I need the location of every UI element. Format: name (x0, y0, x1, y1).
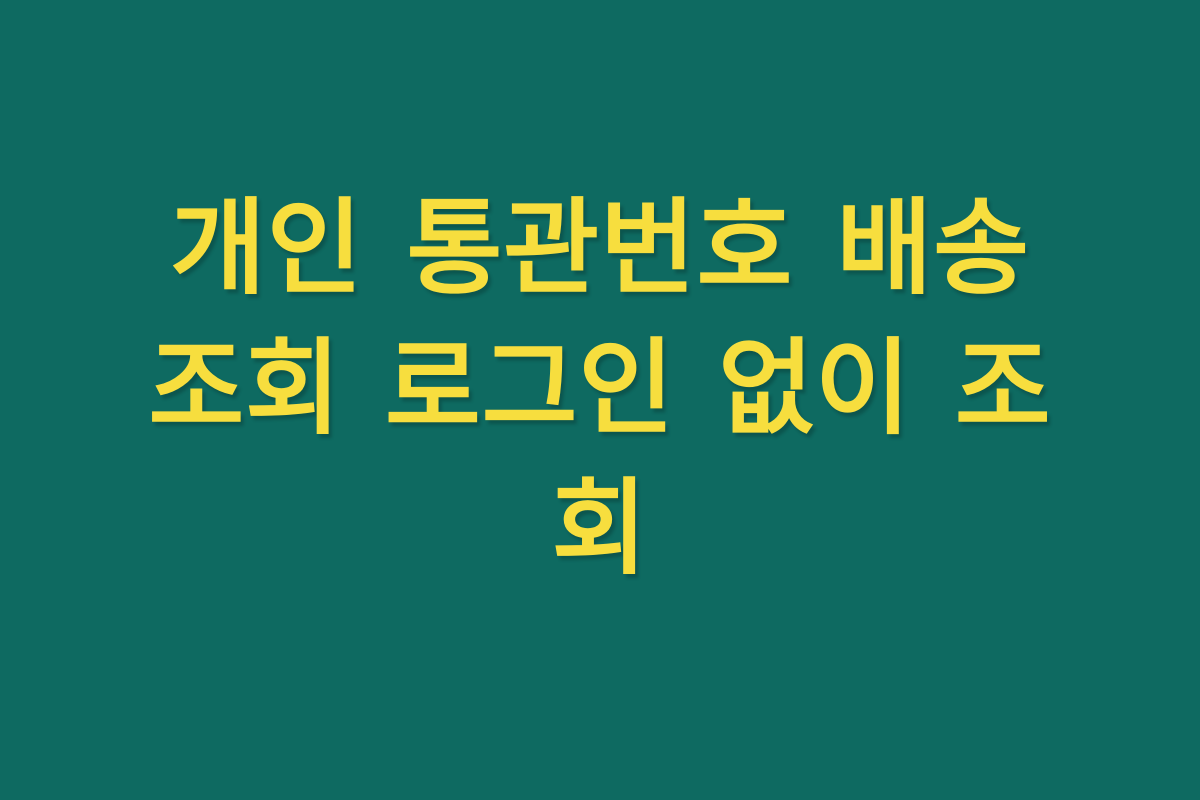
banner-background: 개인 통관번호 배송 조회 로그인 없이 조회 (0, 0, 1200, 800)
banner-headline: 개인 통관번호 배송 조회 로그인 없이 조회 (120, 178, 1080, 598)
